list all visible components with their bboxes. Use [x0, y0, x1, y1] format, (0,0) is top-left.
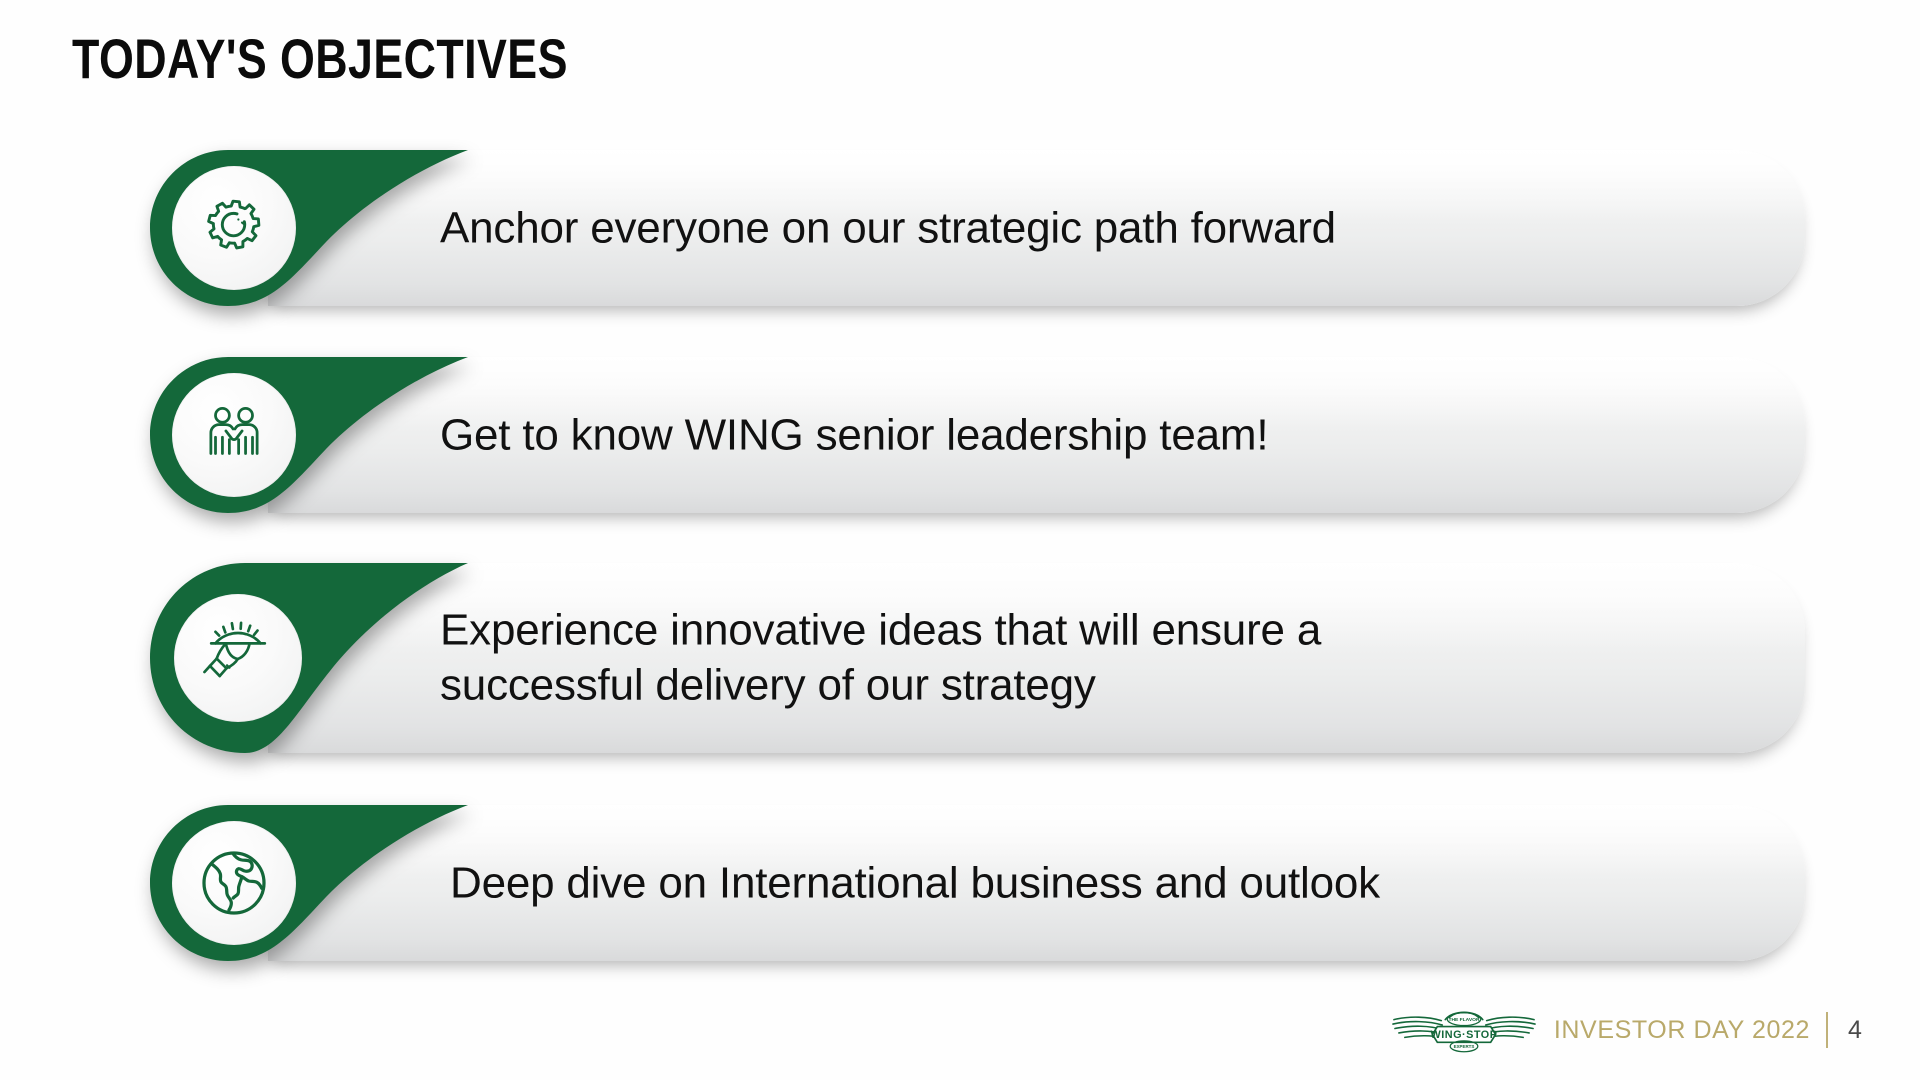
- objective-card-2[interactable]: Get to know WING senior leadership team!: [150, 357, 1805, 513]
- card-icon-disc-4: [172, 821, 296, 945]
- handshake-people-icon: [197, 398, 271, 472]
- footer-page-number: 4: [1844, 1016, 1866, 1045]
- objective-text-1: Anchor everyone on our strategic path fo…: [440, 200, 1685, 255]
- objectives-list: Anchor everyone on our strategic path fo…: [0, 0, 1920, 1010]
- serving-tray-hand-icon: [199, 619, 277, 697]
- card-icon-disc-1: [172, 166, 296, 290]
- card-icon-disc-2: [172, 373, 296, 497]
- footer-event-label: INVESTOR DAY 2022: [1554, 1016, 1810, 1045]
- footer-divider: [1826, 1012, 1828, 1048]
- objective-text-4: Deep dive on International business and …: [450, 855, 1685, 910]
- objective-card-1[interactable]: Anchor everyone on our strategic path fo…: [150, 150, 1805, 306]
- slide-footer: WING·STOP THE FLAVOR EXPERTS INVESTOR DA…: [1390, 1002, 1866, 1058]
- wingstop-wings-logo: WING·STOP THE FLAVOR EXPERTS: [1390, 1002, 1538, 1058]
- card-icon-disc-3: [174, 594, 302, 722]
- globe-icon: [194, 843, 274, 923]
- objective-card-4[interactable]: Deep dive on International business and …: [150, 805, 1805, 961]
- svg-text:WING·STOP: WING·STOP: [1430, 1029, 1497, 1041]
- svg-text:THE FLAVOR: THE FLAVOR: [1448, 1017, 1480, 1023]
- objective-card-3[interactable]: Experience innovative ideas that will en…: [150, 563, 1805, 753]
- svg-text:EXPERTS: EXPERTS: [1453, 1044, 1474, 1049]
- objective-text-3: Experience innovative ideas that will en…: [440, 603, 1425, 714]
- gear-icon: [195, 189, 273, 267]
- objective-text-2: Get to know WING senior leadership team!: [440, 407, 1685, 462]
- slide-canvas: TODAY'S OBJECTIVES Anchor everyone on ou…: [0, 0, 1920, 1080]
